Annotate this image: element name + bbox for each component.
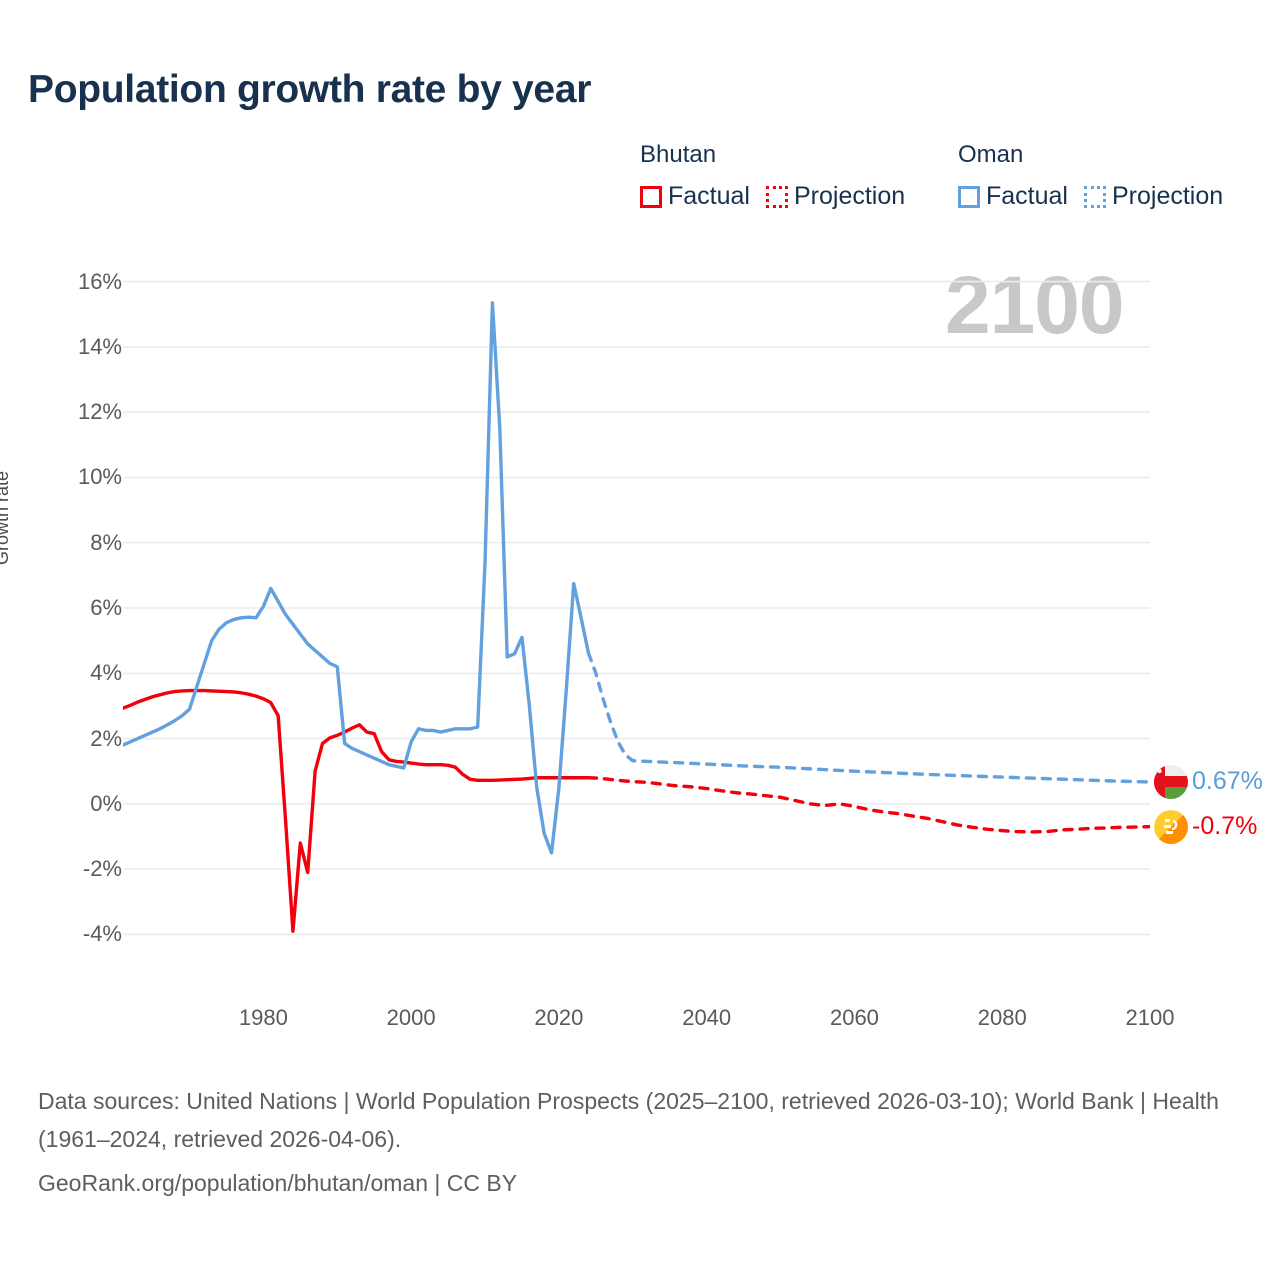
x-tick-label: 2060 bbox=[830, 1005, 879, 1031]
legend-label-oman-factual: Factual bbox=[986, 182, 1068, 211]
y-tick-label: 4% bbox=[32, 660, 122, 686]
legend-swatch-solid-icon bbox=[640, 186, 662, 208]
end-value-bhutan: -0.7% bbox=[1192, 812, 1257, 841]
bhutan-flag-icon bbox=[1154, 810, 1188, 844]
x-tick-label: 2040 bbox=[682, 1005, 731, 1031]
legend-item-oman-projection[interactable]: Projection bbox=[1084, 182, 1223, 211]
legend-country-oman: Oman bbox=[958, 140, 1223, 170]
y-tick-label: 2% bbox=[32, 726, 122, 752]
legend-item-bhutan-factual[interactable]: Factual bbox=[640, 182, 750, 211]
x-tick-label: 1980 bbox=[239, 1005, 288, 1031]
x-tick-label: 2100 bbox=[1126, 1005, 1175, 1031]
x-tick-label: 2080 bbox=[978, 1005, 1027, 1031]
y-tick-label: -4% bbox=[32, 921, 122, 947]
chart-legend: Bhutan Factual Projection Oman Factual bbox=[640, 140, 1250, 230]
y-tick-label: 16% bbox=[32, 269, 122, 295]
y-tick-label: 6% bbox=[32, 595, 122, 621]
series-line-oman-factual bbox=[123, 303, 588, 853]
y-axis-label: Growth rate bbox=[0, 471, 13, 565]
page-title: Population growth rate by year bbox=[28, 68, 591, 112]
legend-item-oman-factual[interactable]: Factual bbox=[958, 182, 1068, 211]
series-line-bhutan-factual bbox=[123, 691, 588, 932]
plot-area bbox=[123, 262, 1150, 954]
legend-label-bhutan-factual: Factual bbox=[668, 182, 750, 211]
x-tick-label: 2020 bbox=[534, 1005, 583, 1031]
footer-attribution: GeoRank.org/population/bhutan/oman | CC … bbox=[38, 1164, 1238, 1202]
legend-label-oman-projection: Projection bbox=[1112, 182, 1223, 211]
end-label-bhutan: -0.7% bbox=[1154, 810, 1257, 844]
y-tick-label: 12% bbox=[32, 399, 122, 425]
series-line-oman-projection bbox=[588, 653, 1150, 782]
y-tick-label: 8% bbox=[32, 530, 122, 556]
end-label-oman: 0.67% bbox=[1154, 765, 1263, 799]
x-tick-label: 2000 bbox=[387, 1005, 436, 1031]
legend-group-bhutan: Bhutan Factual Projection bbox=[640, 140, 905, 211]
legend-swatch-dotted-icon bbox=[766, 186, 788, 208]
legend-group-oman: Oman Factual Projection bbox=[958, 140, 1223, 211]
legend-swatch-solid-icon bbox=[958, 186, 980, 208]
legend-label-bhutan-projection: Projection bbox=[794, 182, 905, 211]
series-line-bhutan-projection bbox=[588, 778, 1150, 832]
y-tick-label: 14% bbox=[32, 334, 122, 360]
footer: Data sources: United Nations | World Pop… bbox=[38, 1082, 1238, 1202]
legend-swatch-dotted-icon bbox=[1084, 186, 1106, 208]
legend-country-bhutan: Bhutan bbox=[640, 140, 905, 170]
y-tick-label: -2% bbox=[32, 856, 122, 882]
y-tick-label: 10% bbox=[32, 464, 122, 490]
end-value-oman: 0.67% bbox=[1192, 767, 1263, 796]
footer-sources: Data sources: United Nations | World Pop… bbox=[38, 1082, 1238, 1158]
y-tick-label: 0% bbox=[32, 791, 122, 817]
oman-flag-icon bbox=[1154, 765, 1188, 799]
legend-item-bhutan-projection[interactable]: Projection bbox=[766, 182, 905, 211]
